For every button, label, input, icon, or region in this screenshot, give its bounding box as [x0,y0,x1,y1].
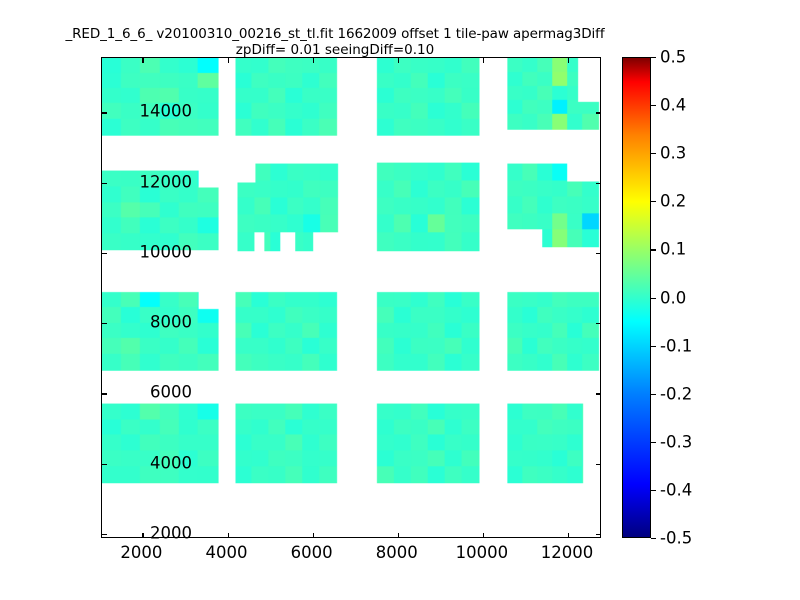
colorbar-tick-label: 0.1 [660,240,686,259]
colorbar-tick-mark [651,346,656,347]
y-tick-mark-right [596,112,601,113]
colorbar-tick-label: -0.2 [660,384,692,403]
colorbar-tick-mark [651,201,656,202]
colorbar-tick-label: 0.0 [660,288,686,307]
y-tick-mark-right [596,393,601,394]
colorbar-tick-mark [651,57,656,58]
plot-subtitle: zpDiff= 0.01 seeingDiff=0.10 [0,42,670,58]
y-tick-label: 6000 [32,383,192,402]
colorbar-tick-label: -0.5 [660,529,692,548]
colorbar-tick-label: -0.1 [660,336,692,355]
colorbar-tick-mark [651,442,656,443]
colorbar-tick-mark [651,490,656,491]
y-tick-mark-right [596,323,601,324]
x-tick-mark-top [398,58,399,63]
y-tick-mark-right [596,464,601,465]
colorbar-gradient [622,57,651,538]
y-tick-label: 4000 [32,453,192,472]
x-tick-mark [313,533,314,538]
y-tick-mark-right [596,534,601,535]
y-tick-label: 2000 [32,523,192,542]
colorbar-tick-label: 0.2 [660,192,686,211]
colorbar-tick-mark [651,538,656,539]
y-tick-mark-right [596,253,601,254]
colorbar-tick-mark [651,105,656,106]
x-tick-label: 12000 [487,543,647,562]
x-tick-mark [398,533,399,538]
y-tick-label: 8000 [32,313,192,332]
plot-title: _RED_1_6_6_ v20100310_00216_st_tl.fit 16… [0,26,670,42]
x-tick-mark-top [228,58,229,63]
colorbar-tick-mark [651,394,656,395]
colorbar-tick-mark [651,153,656,154]
x-tick-mark [228,533,229,538]
x-tick-mark-top [483,58,484,63]
y-tick-label: 10000 [32,242,192,261]
colorbar-tick-label: -0.3 [660,432,692,451]
x-tick-mark-top [142,58,143,63]
x-tick-mark-top [568,58,569,63]
colorbar-tick-label: 0.5 [660,48,686,67]
colorbar-tick-label: 0.4 [660,96,686,115]
y-tick-mark-right [596,183,601,184]
x-tick-mark [483,533,484,538]
y-tick-label: 12000 [32,172,192,191]
colorbar: -0.5-0.4-0.3-0.2-0.10.00.10.20.30.40.5 [622,57,651,538]
colorbar-tick-label: -0.4 [660,480,692,499]
x-tick-mark-top [313,58,314,63]
figure-canvas: _RED_1_6_6_ v20100310_00216_st_tl.fit 16… [0,0,800,600]
x-tick-mark [568,533,569,538]
colorbar-tick-mark [651,298,656,299]
y-tick-label: 14000 [32,102,192,121]
colorbar-tick-mark [651,249,656,250]
colorbar-tick-label: 0.3 [660,144,686,163]
